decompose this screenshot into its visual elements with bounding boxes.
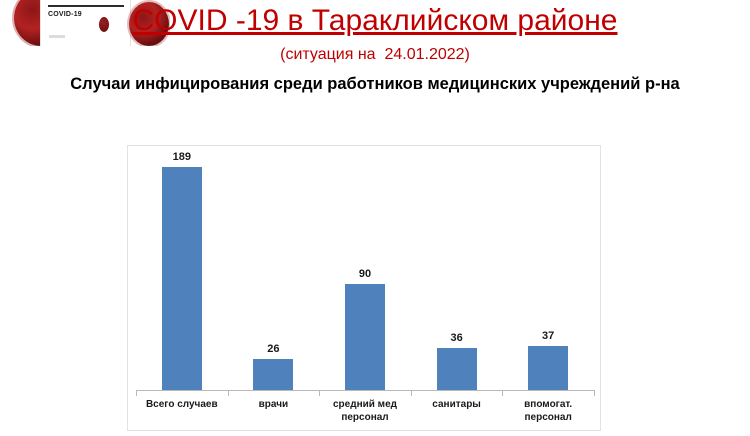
category-label-line: впомогат. (504, 398, 592, 411)
x-axis-category-labels: Всего случаевврачисредний медперсоналсан… (136, 398, 594, 424)
category-label-line: персонал (504, 411, 592, 424)
axis-tick (228, 390, 229, 396)
category-label: санитары (411, 398, 503, 424)
category-label-line: средний мед (321, 398, 409, 411)
x-axis-ticks (136, 390, 594, 396)
category-label-line: персонал (321, 411, 409, 424)
page-title-text: COVID -19 в Тараклийском районе (133, 4, 618, 37)
axis-tick (411, 390, 412, 396)
bar-value-label: 26 (267, 343, 279, 356)
category-label: врачи (228, 398, 320, 424)
axis-tick (502, 390, 503, 396)
bar-value-label: 37 (542, 330, 554, 343)
page-title: COVID -19 в Тараклийском районе (0, 2, 750, 40)
bar[interactable] (253, 359, 293, 390)
bar-group: 26 (228, 152, 320, 390)
bar-chart: 18926903637 Всего случаевврачисредний ме… (127, 145, 601, 431)
bar[interactable] (437, 348, 477, 390)
page-subtitle: (ситуация на 24.01.2022) (0, 44, 750, 66)
bar-value-label: 189 (173, 151, 191, 164)
bar-value-label: 36 (450, 332, 462, 345)
bar-group: 189 (136, 152, 228, 390)
axis-tick (319, 390, 320, 396)
category-label: впомогат.персонал (502, 398, 594, 424)
bar-group: 36 (411, 152, 503, 390)
section-heading: Случаи инфицирования среди работников ме… (0, 71, 750, 97)
bar-series: 18926903637 (136, 152, 594, 390)
category-label: средний медперсонал (319, 398, 411, 424)
bar[interactable] (162, 167, 202, 390)
axis-tick (136, 390, 137, 396)
category-label-line: санитары (413, 398, 501, 411)
bar-group: 90 (319, 152, 411, 390)
bar[interactable] (528, 346, 568, 390)
axis-tick (594, 390, 595, 396)
plot-area: 18926903637 (136, 152, 594, 390)
category-label-line: Всего случаев (138, 398, 226, 411)
category-label: Всего случаев (136, 398, 228, 424)
bar-value-label: 90 (359, 268, 371, 281)
bar-group: 37 (502, 152, 594, 390)
bar[interactable] (345, 284, 385, 390)
category-label-line: врачи (230, 398, 318, 411)
